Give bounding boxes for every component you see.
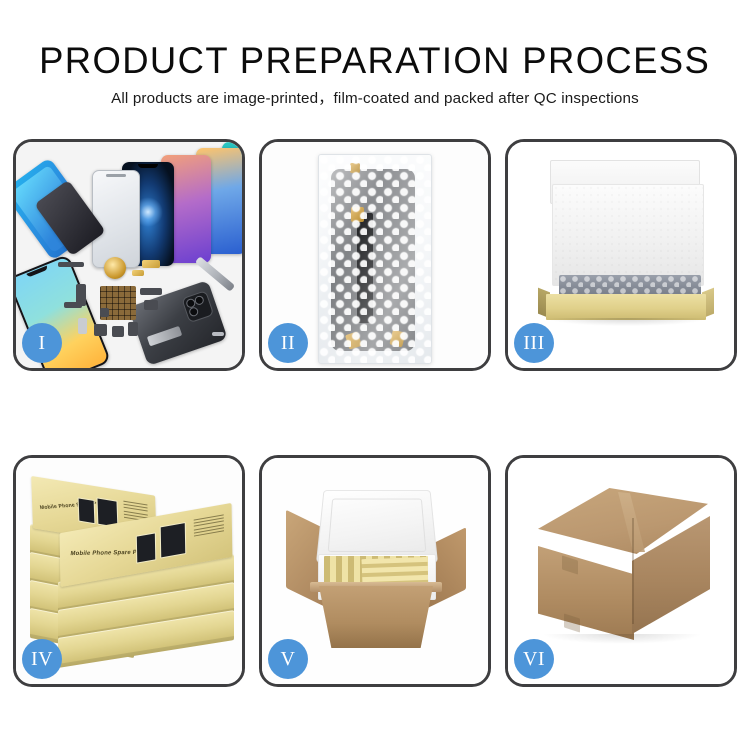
process-step-panel-3: III (505, 139, 737, 371)
styrofoam-lid (316, 490, 438, 563)
step-number-badge-2: II (268, 323, 308, 363)
box-window-rear-1 (78, 497, 96, 524)
step-number-badge-1: I (22, 323, 62, 363)
product-preparation-infographic: PRODUCT PREPARATION PROCESS All products… (0, 0, 750, 750)
page-title: PRODUCT PREPARATION PROCESS (39, 41, 710, 81)
box-stack: Mobile Phone Spare Parts Mobile Phone Sp… (28, 472, 236, 672)
foam-sheet (552, 184, 704, 286)
process-step-grid: I II (13, 139, 737, 687)
process-step-panel-2: II (259, 139, 491, 371)
small-part-5 (64, 302, 82, 308)
small-part-1 (58, 262, 84, 267)
small-part-2 (142, 260, 160, 268)
page-subtitle: All products are image-printed，film-coat… (111, 90, 639, 108)
carton-body (314, 586, 438, 648)
battery-strip (147, 326, 182, 347)
small-part-7 (144, 300, 158, 310)
plastic-sheen (319, 155, 431, 363)
small-part-8 (78, 318, 87, 334)
carton-corner-seam (632, 518, 634, 624)
step-number-badge-3: III (514, 323, 554, 363)
box-window-front-2 (160, 522, 187, 558)
header: PRODUCT PREPARATION PROCESS All products… (0, 0, 750, 120)
box-shadow (548, 318, 706, 326)
step-number-badge-4: IV (22, 639, 62, 679)
box-front-panel (546, 294, 706, 320)
carton-shadow (542, 634, 702, 644)
step-number-badge-5: V (268, 639, 308, 679)
small-part-6 (140, 288, 162, 295)
process-step-panel-4: Mobile Phone Spare Parts Mobile Phone Sp… (13, 455, 245, 687)
speaker-coil-part (104, 257, 126, 279)
small-part-11 (128, 322, 138, 336)
camera-module-icon (181, 290, 214, 323)
step-number-badge-6: VI (514, 639, 554, 679)
box-spec-lines-front (194, 514, 224, 538)
small-part-3 (132, 270, 144, 276)
process-step-panel-5: V (259, 455, 491, 687)
small-part-12 (100, 308, 109, 317)
bubble-wrap-bag (318, 154, 432, 364)
carton-left-face (538, 546, 634, 640)
process-step-panel-1: I (13, 139, 245, 371)
tempered-glass-sheet (92, 170, 140, 268)
process-step-panel-6: VI (505, 455, 737, 687)
box-window-front-1 (136, 532, 156, 563)
small-part-10 (112, 326, 124, 337)
small-part-9 (94, 324, 107, 336)
screw-part (212, 332, 224, 336)
